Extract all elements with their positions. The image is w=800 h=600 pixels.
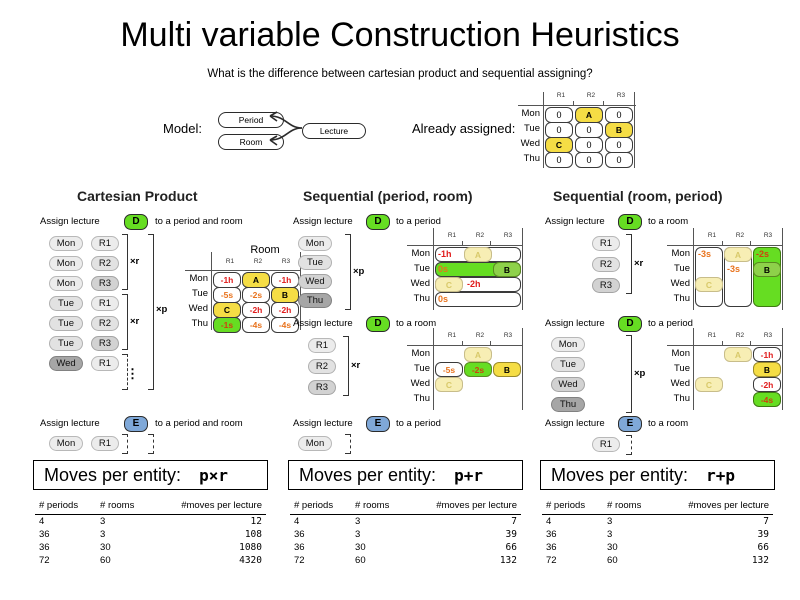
- grid-cell: -2h: [242, 302, 270, 318]
- bracket-label-xr: ×r: [130, 316, 139, 327]
- grid-cell: -5s: [213, 287, 241, 303]
- list-item[interactable]: R2: [91, 316, 119, 331]
- list-item[interactable]: Wed: [551, 377, 585, 392]
- row-header-wed: Wed: [660, 378, 690, 389]
- grid-cell: -1h: [753, 347, 781, 362]
- moves-label: Moves per entity:: [541, 465, 688, 486]
- col-header-r3: R3: [272, 258, 300, 265]
- list-item[interactable]: Thu: [551, 397, 585, 412]
- bracket-label-xp: ×p: [353, 266, 364, 277]
- cell-periods: 4: [35, 515, 96, 529]
- grid-cell: -1h: [271, 272, 299, 288]
- list-item[interactable]: R1: [91, 296, 119, 311]
- col-rooms: # rooms: [96, 498, 151, 515]
- list-item[interactable]: R1: [308, 338, 336, 353]
- grid-cell: -4s: [753, 392, 781, 407]
- cell-periods: 36: [290, 528, 351, 541]
- cell-moves: 132: [658, 554, 773, 567]
- col-header-r3: R3: [754, 332, 782, 339]
- row-header-tue: Tue: [660, 363, 690, 374]
- list-item[interactable]: R3: [91, 336, 119, 351]
- bracket-xr-1: [122, 234, 128, 290]
- assigned-cell: 0: [575, 137, 603, 153]
- col-header-r1: R1: [438, 332, 466, 339]
- table-row: 363108: [35, 528, 266, 541]
- cell-rooms: 3: [603, 528, 658, 541]
- list-item[interactable]: Mon: [551, 337, 585, 352]
- moves-formula: p×r: [181, 466, 228, 485]
- col-header-r2: R2: [466, 332, 494, 339]
- col-header-r1: R1: [698, 332, 726, 339]
- table-row: 363066: [542, 541, 773, 554]
- already-assigned-label: Already assigned:: [412, 121, 515, 136]
- grid-cell: C: [435, 377, 463, 392]
- assign-line-1: Assign lecture: [545, 216, 605, 227]
- cell-moves: 7: [658, 515, 773, 529]
- cell-moves: 108: [151, 528, 266, 541]
- assigned-cell: B: [605, 122, 633, 138]
- cell-rooms: 3: [96, 515, 151, 529]
- assign-suffix: to a period: [648, 318, 693, 329]
- bracket-dashed: [626, 435, 632, 455]
- list-item[interactable]: Tue: [49, 296, 83, 311]
- assign-suffix: to a room: [648, 418, 688, 429]
- assigned-cell: A: [575, 107, 603, 123]
- col-header-r2: R2: [726, 232, 754, 239]
- bracket-xp: [626, 335, 632, 413]
- cell-moves: 12: [151, 515, 266, 529]
- grid-cell: -1h: [213, 272, 241, 288]
- cell-moves: 4320: [151, 554, 266, 567]
- cell-periods: 36: [542, 541, 603, 554]
- bracket-dashed: [345, 434, 351, 454]
- grid-cell: -2h: [271, 302, 299, 318]
- list-item[interactable]: Wed: [49, 356, 83, 371]
- row-header-tue: Tue: [400, 363, 430, 374]
- cell-rooms: 3: [351, 515, 406, 529]
- row-header-thu: Thu: [400, 393, 430, 404]
- table-row: 36339: [290, 528, 521, 541]
- cell-moves: 1080: [151, 541, 266, 554]
- row-header-wed: Wed: [178, 303, 208, 314]
- grid-cell: B: [493, 362, 521, 377]
- grid-caption-room: Room: [230, 244, 300, 256]
- list-item[interactable]: Mon: [49, 256, 83, 271]
- list-item[interactable]: R1: [592, 236, 620, 251]
- cell-rooms: 30: [96, 541, 151, 554]
- column-heading-cartesian: Cartesian Product: [77, 188, 198, 204]
- row-header-wed: Wed: [660, 278, 690, 289]
- stats-table-seq-rp: # periods # rooms #moves per lecture 437…: [542, 498, 773, 567]
- row-header-mon: Mon: [400, 348, 430, 359]
- row-header-mon: Mon: [660, 348, 690, 359]
- col-header-r2: R2: [578, 92, 604, 99]
- grid-cell: -2h: [753, 377, 781, 392]
- assign-line-1: Assign lecture: [40, 216, 100, 227]
- table-row: 437: [542, 515, 773, 529]
- cell-moves: 66: [406, 541, 521, 554]
- cell-rooms: 30: [351, 541, 406, 554]
- assigned-cell: 0: [545, 152, 573, 168]
- bracket-dashed: [148, 434, 154, 454]
- cell-periods: 36: [542, 528, 603, 541]
- row-header-wed: Wed: [400, 378, 430, 389]
- bracket-xp: [148, 234, 154, 390]
- cell-periods: 72: [290, 554, 351, 567]
- list-item[interactable]: R3: [592, 278, 620, 293]
- column-heading-seq-room-period: Sequential (room, period): [553, 188, 723, 204]
- lecture-chip-d[interactable]: D: [124, 214, 148, 230]
- assign-line-3: Assign lecture: [293, 418, 353, 429]
- moves-label: Moves per entity:: [289, 465, 436, 486]
- lecture-chip-d[interactable]: D: [366, 316, 390, 332]
- assigned-cell: 0: [575, 122, 603, 138]
- cell-rooms: 3: [96, 528, 151, 541]
- assigned-cell: 0: [605, 137, 633, 153]
- lecture-chip-e[interactable]: E: [124, 416, 148, 432]
- col-header-r3: R3: [754, 232, 782, 239]
- grid-cell: -1s: [213, 317, 241, 333]
- assigned-cell: 0: [605, 152, 633, 168]
- cell-rooms: 60: [96, 554, 151, 567]
- list-item[interactable]: R3: [308, 380, 336, 395]
- grid-cell: -3s: [698, 249, 711, 259]
- list-item[interactable]: Mon: [298, 436, 332, 451]
- page-subtitle: What is the difference between cartesian…: [0, 68, 800, 80]
- column-heading-seq-period-room: Sequential (period, room): [303, 188, 473, 204]
- list-item[interactable]: Tue: [551, 357, 585, 372]
- grid-cell: C: [435, 277, 463, 292]
- col-header-r2: R2: [726, 332, 754, 339]
- grid-cell: -3s: [727, 264, 740, 274]
- bracket-label-xr: ×r: [351, 360, 360, 371]
- grid-cell: A: [464, 347, 492, 362]
- assigned-cell: C: [545, 137, 573, 153]
- grid-cell: B: [753, 262, 781, 277]
- grid-cell: A: [242, 272, 270, 288]
- bracket-label-xr: ×r: [130, 256, 139, 267]
- list-item[interactable]: Wed: [298, 274, 332, 289]
- stats-table-cartesian: # periods # rooms #moves per lecture 431…: [35, 498, 266, 567]
- assign-suffix: to a period: [396, 418, 441, 429]
- moves-label: Moves per entity:: [34, 465, 181, 486]
- row-header-mon: Mon: [400, 248, 430, 259]
- cell-moves: 66: [658, 541, 773, 554]
- cell-moves: 39: [406, 528, 521, 541]
- assign-line-3: Assign lecture: [545, 418, 605, 429]
- assign-prefix: Assign lecture: [40, 418, 100, 429]
- model-connector-lines: [262, 110, 310, 158]
- col-header-r1: R1: [438, 232, 466, 239]
- assign-line-2: Assign lecture: [293, 318, 353, 329]
- bracket-xr: [626, 234, 632, 294]
- cell-rooms: 60: [603, 554, 658, 567]
- assign-line-1: Assign lecture: [293, 216, 353, 227]
- row-header-tue: Tue: [512, 123, 540, 134]
- bracket-label-xp: ×p: [634, 368, 645, 379]
- col-header-r1: R1: [698, 232, 726, 239]
- table-header-row: # periods # rooms #moves per lecture: [290, 498, 521, 515]
- row-header-thu: Thu: [178, 318, 208, 329]
- moves-box-seq-pr: Moves per entity: p+r: [288, 460, 523, 490]
- lecture-chip-d[interactable]: D: [618, 316, 642, 332]
- grid-cell: C: [695, 377, 723, 392]
- cell-periods: 36: [35, 528, 96, 541]
- list-item[interactable]: Tue: [49, 316, 83, 331]
- cell-periods: 36: [290, 541, 351, 554]
- grid-cell: B: [493, 262, 521, 277]
- col-moves: #moves per lecture: [151, 498, 266, 515]
- list-item[interactable]: R1: [91, 356, 119, 371]
- cell-moves: 39: [658, 528, 773, 541]
- table-row: 72604320: [35, 554, 266, 567]
- lecture-chip-e[interactable]: E: [618, 416, 642, 432]
- grid-cell: A: [724, 347, 752, 362]
- assigned-cell: 0: [545, 107, 573, 123]
- grid-cell: -2s: [242, 287, 270, 303]
- cell-rooms: 3: [603, 515, 658, 529]
- list-item[interactable]: R1: [592, 437, 620, 452]
- col-header-r3: R3: [608, 92, 634, 99]
- cell-rooms: 30: [603, 541, 658, 554]
- list-item[interactable]: Tue: [298, 255, 332, 270]
- table-row: 437: [290, 515, 521, 529]
- grid-cell: 0s: [438, 294, 448, 304]
- grid-cell: 0s: [438, 264, 448, 274]
- assign-suffix: to a room: [648, 216, 688, 227]
- row-header-tue: Tue: [660, 263, 690, 274]
- bracket-label-xp: ×p: [156, 304, 167, 315]
- stats-table-seq-pr: # periods # rooms #moves per lecture 437…: [290, 498, 521, 567]
- cell-periods: 4: [542, 515, 603, 529]
- row-header-mon: Mon: [178, 273, 208, 284]
- model-label: Model:: [163, 121, 202, 136]
- table-row: 36339: [542, 528, 773, 541]
- grid-cell: B: [753, 362, 781, 377]
- lecture-chip-d[interactable]: D: [366, 214, 390, 230]
- assigned-cell: 0: [605, 107, 633, 123]
- grid-cell: A: [724, 247, 752, 262]
- row-header-mon: Mon: [512, 108, 540, 119]
- grid-cell: -2s: [464, 362, 492, 377]
- col-header-r1: R1: [548, 92, 574, 99]
- grid-cell: B: [271, 287, 299, 303]
- cell-rooms: 60: [351, 554, 406, 567]
- grid-cell: -4s: [242, 317, 270, 333]
- cell-moves: 132: [406, 554, 521, 567]
- assign-suffix: to a room: [396, 318, 436, 329]
- table-row: 7260132: [542, 554, 773, 567]
- list-item[interactable]: Mon: [49, 436, 83, 451]
- row-header-wed: Wed: [400, 278, 430, 289]
- bracket-xp: [345, 234, 351, 310]
- list-item[interactable]: Mon: [298, 236, 332, 251]
- table-row: 7260132: [290, 554, 521, 567]
- col-rooms: # rooms: [351, 498, 406, 515]
- table-row: 363066: [290, 541, 521, 554]
- col-periods: # periods: [542, 498, 603, 515]
- list-item[interactable]: R1: [91, 236, 119, 251]
- assign-prefix: Assign lecture: [40, 216, 100, 227]
- cell-rooms: 3: [351, 528, 406, 541]
- lecture-chip-d[interactable]: D: [618, 214, 642, 230]
- col-moves: #moves per lecture: [406, 498, 521, 515]
- row-header-thu: Thu: [660, 393, 690, 404]
- row-header-tue: Tue: [400, 263, 430, 274]
- row-header-tue: Tue: [178, 288, 208, 299]
- row-header-mon: Mon: [660, 248, 690, 259]
- col-header-r2: R2: [466, 232, 494, 239]
- row-header-thu: Thu: [660, 293, 690, 304]
- moves-box-seq-rp: Moves per entity: r+p: [540, 460, 775, 490]
- row-header-thu: Thu: [512, 153, 540, 164]
- col-header-r1: R1: [216, 258, 244, 265]
- bracket-label-xr: ×r: [634, 258, 643, 269]
- bracket-xr: [343, 336, 349, 396]
- assign-suffix: to a period: [396, 216, 441, 227]
- cell-periods: 36: [35, 541, 96, 554]
- bracket-dashed: [122, 434, 128, 454]
- list-item[interactable]: R3: [91, 276, 119, 291]
- col-periods: # periods: [290, 498, 351, 515]
- table-row: 4312: [35, 515, 266, 529]
- assign-line-2: Assign lecture: [40, 418, 100, 429]
- grid-cell: -1h: [438, 249, 452, 259]
- col-moves: #moves per lecture: [658, 498, 773, 515]
- moves-formula: r+p: [688, 466, 735, 485]
- grid-cell: C: [695, 277, 723, 292]
- moves-box-cartesian: Moves per entity: p×r: [33, 460, 268, 490]
- row-header-wed: Wed: [512, 138, 540, 149]
- table-header-row: # periods # rooms #moves per lecture: [35, 498, 266, 515]
- assigned-cell: 0: [545, 122, 573, 138]
- col-periods: # periods: [35, 498, 96, 515]
- list-item[interactable]: R2: [91, 256, 119, 271]
- assign-suffix: to a period and room: [155, 418, 243, 429]
- bracket-xr-2: [122, 294, 128, 350]
- list-item[interactable]: Thu: [298, 293, 332, 308]
- list-item[interactable]: R1: [91, 436, 119, 451]
- list-item[interactable]: Mon: [49, 236, 83, 251]
- page-title: Multi variable Construction Heuristics: [0, 16, 800, 55]
- list-item[interactable]: R2: [592, 257, 620, 272]
- lecture-chip-e[interactable]: E: [366, 416, 390, 432]
- cell-periods: 72: [35, 554, 96, 567]
- row-header-thu: Thu: [400, 293, 430, 304]
- cell-moves: 7: [406, 515, 521, 529]
- table-row: 36301080: [35, 541, 266, 554]
- table-header-row: # periods # rooms #moves per lecture: [542, 498, 773, 515]
- assigned-cell: 0: [575, 152, 603, 168]
- assign-line-2: Assign lecture: [545, 318, 605, 329]
- list-item[interactable]: Tue: [49, 336, 83, 351]
- cell-periods: 72: [542, 554, 603, 567]
- bracket-xr-3-dashed: [122, 354, 128, 390]
- col-header-r2: R2: [244, 258, 272, 265]
- model-node-lecture: Lecture: [302, 123, 366, 139]
- assign-suffix: to a period and room: [155, 216, 243, 227]
- list-item[interactable]: Mon: [49, 276, 83, 291]
- grid-cell: -2s: [756, 249, 769, 259]
- col-header-r3: R3: [494, 232, 522, 239]
- list-item[interactable]: R2: [308, 359, 336, 374]
- grid-cell: -5s: [435, 362, 463, 377]
- cell-periods: 4: [290, 515, 351, 529]
- grid-cell: -2h: [467, 279, 481, 289]
- col-header-r3: R3: [494, 332, 522, 339]
- grid-cell: A: [464, 247, 492, 262]
- col-rooms: # rooms: [603, 498, 658, 515]
- grid-cell: C: [213, 302, 241, 318]
- moves-formula: p+r: [436, 466, 483, 485]
